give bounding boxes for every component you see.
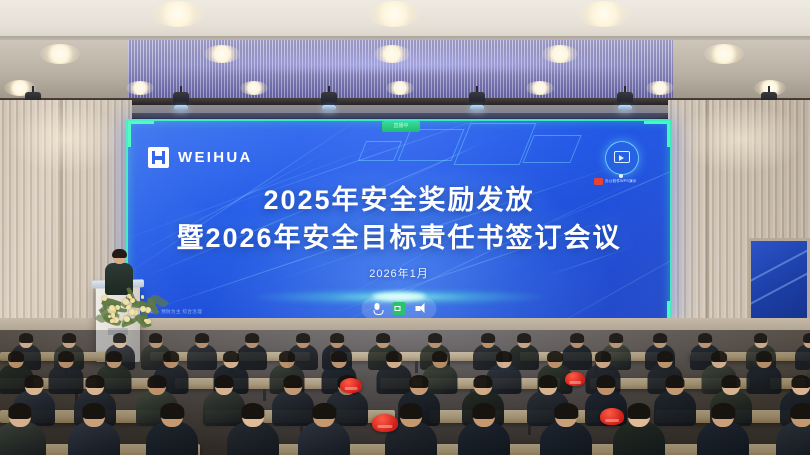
screen-corner-top-left (128, 121, 154, 147)
downlight-4 (40, 44, 80, 64)
safety-helmet-1 (340, 378, 362, 393)
downlight-1 (152, 1, 204, 27)
audience-hair (571, 333, 585, 343)
audience-member-54 (458, 404, 510, 455)
flower-bud-10 (110, 319, 114, 323)
audience-hair (8, 403, 31, 419)
audience-hair (428, 333, 442, 343)
downlight-3 (578, 1, 630, 27)
downlight-5 (204, 45, 240, 63)
audience-member-48 (0, 404, 46, 455)
audience-member-50 (146, 404, 198, 455)
downlight-10 (126, 81, 154, 95)
flower-bud-20 (111, 313, 115, 317)
safety-helmet-4 (600, 408, 624, 425)
audience-member-58 (776, 404, 810, 455)
presenter-hair (112, 249, 127, 258)
downlight-14 (646, 81, 674, 95)
spotlight-lens (618, 105, 632, 110)
audience-hair (792, 375, 810, 388)
audience-hair (214, 375, 233, 388)
side-wall-monitor (748, 238, 810, 326)
audience-member-5 (187, 334, 217, 373)
spotlight-lens (174, 105, 188, 110)
conference-photo-scene: 直播中 WEIHUA 办公软件WPS演示 2025年安全奖励发放 暨2026年安… (0, 0, 810, 455)
audience-hair (376, 333, 390, 343)
stage-spotlight-3 (318, 86, 340, 112)
audience-member-52 (298, 404, 350, 455)
audience-hair (62, 333, 76, 343)
audience-hair (163, 351, 179, 362)
flower-bud-13 (141, 295, 144, 298)
flower-bud-14 (124, 316, 130, 322)
audience-hair (547, 351, 563, 362)
flower-bud-19 (129, 309, 135, 315)
spotlight-lens (470, 105, 484, 110)
audience-hair (474, 375, 493, 388)
audience-hair (24, 375, 43, 388)
downlight-8 (704, 44, 744, 64)
audience-member-49 (68, 404, 120, 455)
audience-hair (82, 403, 105, 419)
audience-hair (698, 333, 712, 343)
audience-hair (195, 333, 209, 343)
audience-hair (223, 351, 239, 362)
audience-member-51 (227, 404, 279, 455)
audience-hair (596, 375, 615, 388)
audience-hair (386, 351, 402, 362)
audience-hair (331, 351, 347, 362)
flower-bud-7 (145, 307, 151, 313)
audience-hair (409, 375, 428, 388)
audience-hair (517, 333, 531, 343)
audience-hair (313, 403, 336, 419)
audience-hair (283, 375, 302, 388)
stage-spotlight-5 (614, 86, 636, 112)
audience-hair (722, 375, 741, 388)
audience-hair (161, 403, 184, 419)
flower-bud-8 (140, 306, 146, 312)
main-led-screen[interactable]: 直播中 WEIHUA 办公软件WPS演示 2025年安全奖励发放 暨2026年安… (126, 119, 672, 329)
audience-hair (756, 351, 772, 362)
audience-hair (279, 351, 295, 362)
audience-hair (496, 351, 512, 362)
stage-spotlight-4 (466, 86, 488, 112)
audience-body (187, 344, 217, 370)
audience-hair (481, 333, 495, 343)
flower-bud-16 (102, 296, 107, 301)
downlight-6 (374, 45, 410, 63)
audience-hair (711, 351, 727, 362)
downlight-12 (386, 81, 414, 95)
audience-hair (106, 351, 122, 362)
desk-row4-3 (500, 444, 700, 455)
audience-hair (657, 351, 673, 362)
audience-hair (596, 351, 612, 362)
audience-hair (472, 403, 495, 419)
audience-hair (654, 333, 668, 343)
audience-member-57 (697, 404, 749, 455)
audience-hair (791, 403, 810, 419)
spotlight-lens (322, 105, 336, 110)
audience-hair (330, 333, 344, 343)
audience-hair (539, 375, 558, 388)
audience-hair (8, 351, 24, 362)
audience-hair (241, 403, 264, 419)
audience-hair (19, 333, 33, 343)
audience-hair (803, 333, 810, 343)
downlight-13 (526, 81, 554, 95)
desk-leg-row2-2 (263, 389, 266, 401)
screen-green-border (126, 119, 672, 329)
screen-corner-top-right (644, 121, 670, 147)
audience-hair (627, 403, 650, 419)
downlight-2 (368, 1, 420, 27)
audience-hair (754, 333, 768, 343)
audience-hair (399, 403, 422, 419)
stage-spotlight-2 (170, 86, 192, 112)
audience-hair (712, 403, 735, 419)
desk-leg-row1-3 (415, 361, 418, 373)
audience-hair (665, 375, 684, 388)
audience-hair (555, 403, 578, 419)
audience-hair (609, 333, 623, 343)
downlight-7 (542, 45, 578, 63)
audience-hair (149, 333, 163, 343)
podium-flowers (96, 286, 158, 328)
audience-member-55 (540, 404, 592, 455)
audience-hair (296, 333, 310, 343)
audience-hair (58, 351, 74, 362)
audience-hair (86, 375, 105, 388)
downlight-11 (240, 81, 268, 95)
audience-hair (147, 375, 166, 388)
safety-helmet-2 (565, 372, 585, 386)
audience-hair (432, 351, 448, 362)
audience-hair (113, 333, 127, 343)
safety-helmet-3 (372, 414, 398, 432)
audience-hair (246, 333, 260, 343)
